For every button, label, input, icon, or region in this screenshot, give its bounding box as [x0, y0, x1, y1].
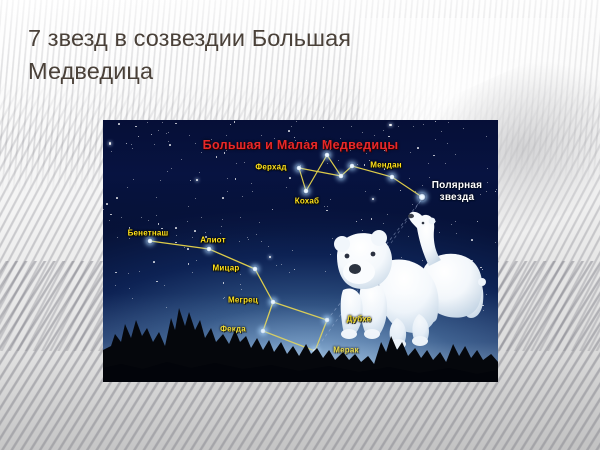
star-label: Полярная звезда [424, 180, 490, 204]
ursa-minor-bowl-line [299, 155, 341, 191]
constellation-star [296, 165, 302, 171]
ursa-minor-handle-line [341, 166, 422, 197]
star-label: Алиот [200, 236, 225, 245]
star-label: Ферхад [255, 163, 286, 172]
constellation-star [147, 238, 153, 244]
tree-silhouettes [103, 272, 498, 382]
star-label: Мендан [370, 161, 402, 170]
presentation-slide: 7 звезд в созвездии Большая Медведица [0, 0, 600, 450]
constellation-image: БенетнашАлиотМицарМегрецФекдаДубхеМеракФ… [103, 120, 498, 382]
slide-title: 7 звезд в созвездии Большая Медведица [28, 22, 498, 88]
image-caption: Большая и Малая Медведицы [203, 138, 399, 152]
constellation-star [389, 174, 395, 180]
constellation-star [324, 152, 330, 158]
constellation-star [338, 173, 344, 179]
constellation-star [349, 163, 355, 169]
star-label: Кохаб [295, 197, 319, 206]
constellation-star [303, 188, 309, 194]
star-label: Бенетнаш [128, 229, 169, 238]
constellation-star [206, 246, 212, 252]
